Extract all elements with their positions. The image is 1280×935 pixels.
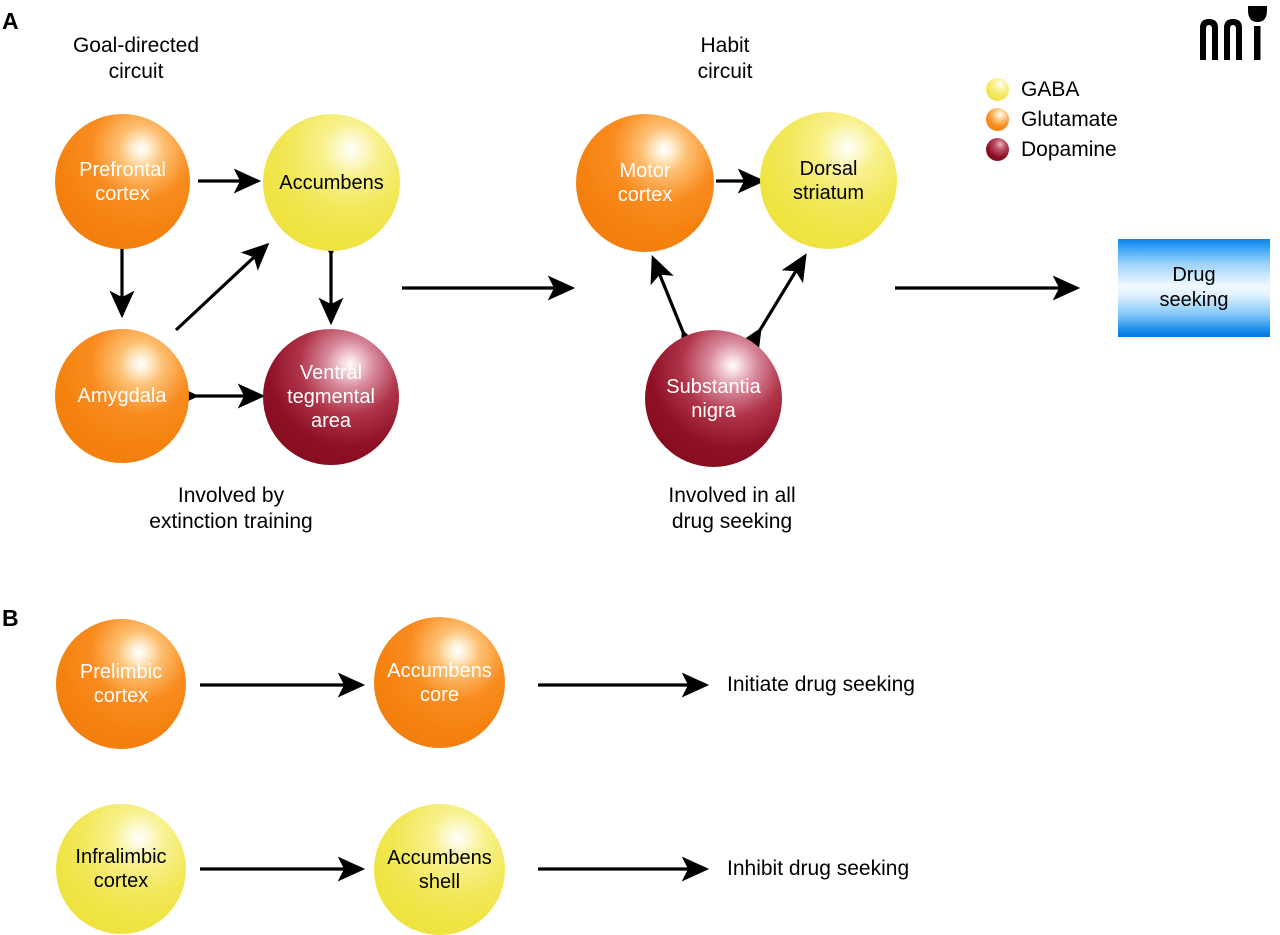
heading-habit-circuit: Habit circuit bbox=[630, 33, 820, 85]
legend: GABA Glutamate Dopamine bbox=[986, 74, 1118, 164]
legend-item-gaba: GABA bbox=[986, 74, 1118, 104]
footer-goal-directed-circuit: Involved by extinction training bbox=[122, 483, 340, 535]
node-infralimbic-cortex[interactable]: Infralimbic cortex bbox=[56, 804, 186, 934]
node-accumbens[interactable]: Accumbens bbox=[263, 114, 400, 251]
drug-seeking-box-label: Drug seeking bbox=[1160, 263, 1229, 313]
node-substantia-nigra-label: Substantia nigra bbox=[666, 375, 761, 423]
publisher-logo bbox=[1198, 2, 1270, 69]
node-accumbens-core[interactable]: Accumbens core bbox=[374, 617, 505, 748]
node-prefrontal-cortex[interactable]: Prefrontal cortex bbox=[55, 114, 190, 249]
legend-label-dopamine: Dopamine bbox=[1021, 139, 1117, 160]
node-dorsal-striatum-label: Dorsal striatum bbox=[793, 157, 864, 205]
panel-label-a: A bbox=[2, 10, 19, 33]
node-prelimbic-cortex[interactable]: Prelimbic cortex bbox=[56, 619, 186, 749]
figure-canvas: A Goal-directed circuit Habit circuit Pr… bbox=[0, 0, 1280, 935]
node-ventral-tegmental-area-label: Ventral tegmental area bbox=[287, 361, 375, 433]
node-accumbens-core-label: Accumbens core bbox=[387, 659, 492, 707]
node-dorsal-striatum[interactable]: Dorsal striatum bbox=[760, 112, 897, 249]
arrow-dorsal-striatum-substantia-nigra bbox=[760, 256, 805, 330]
legend-item-glutamate: Glutamate bbox=[986, 104, 1118, 134]
node-ventral-tegmental-area[interactable]: Ventral tegmental area bbox=[263, 329, 399, 465]
legend-item-dopamine: Dopamine bbox=[986, 134, 1118, 164]
drug-seeking-box[interactable]: Drug seeking bbox=[1118, 239, 1270, 337]
arrow-amygdala-to-accumbens bbox=[176, 245, 267, 330]
node-accumbens-shell[interactable]: Accumbens shell bbox=[374, 804, 505, 935]
node-amygdala-label: Amygdala bbox=[78, 384, 167, 408]
node-accumbens-label: Accumbens bbox=[279, 171, 384, 195]
node-motor-cortex[interactable]: Motor cortex bbox=[576, 114, 714, 252]
arrow-motor-substantia-nigra bbox=[653, 258, 683, 332]
node-amygdala[interactable]: Amygdala bbox=[55, 329, 189, 463]
footer-habit-circuit: Involved in all drug seeking bbox=[629, 483, 835, 535]
node-infralimbic-cortex-label: Infralimbic cortex bbox=[75, 845, 166, 893]
node-prefrontal-cortex-label: Prefrontal cortex bbox=[79, 158, 166, 206]
panel-label-b: B bbox=[2, 607, 19, 630]
legend-swatch-gaba bbox=[986, 78, 1009, 101]
heading-goal-directed-circuit: Goal-directed circuit bbox=[36, 33, 236, 85]
logo-mi-icon bbox=[1198, 2, 1270, 64]
node-motor-cortex-label: Motor cortex bbox=[618, 159, 672, 207]
node-prelimbic-cortex-label: Prelimbic cortex bbox=[80, 660, 162, 708]
outcome-initiate-drug-seeking: Initiate drug seeking bbox=[727, 672, 915, 698]
legend-label-glutamate: Glutamate bbox=[1021, 109, 1118, 130]
legend-label-gaba: GABA bbox=[1021, 79, 1079, 100]
node-substantia-nigra[interactable]: Substantia nigra bbox=[645, 330, 782, 467]
outcome-inhibit-drug-seeking: Inhibit drug seeking bbox=[727, 856, 909, 882]
legend-swatch-dopamine bbox=[986, 138, 1009, 161]
node-accumbens-shell-label: Accumbens shell bbox=[387, 846, 492, 894]
legend-swatch-glutamate bbox=[986, 108, 1009, 131]
